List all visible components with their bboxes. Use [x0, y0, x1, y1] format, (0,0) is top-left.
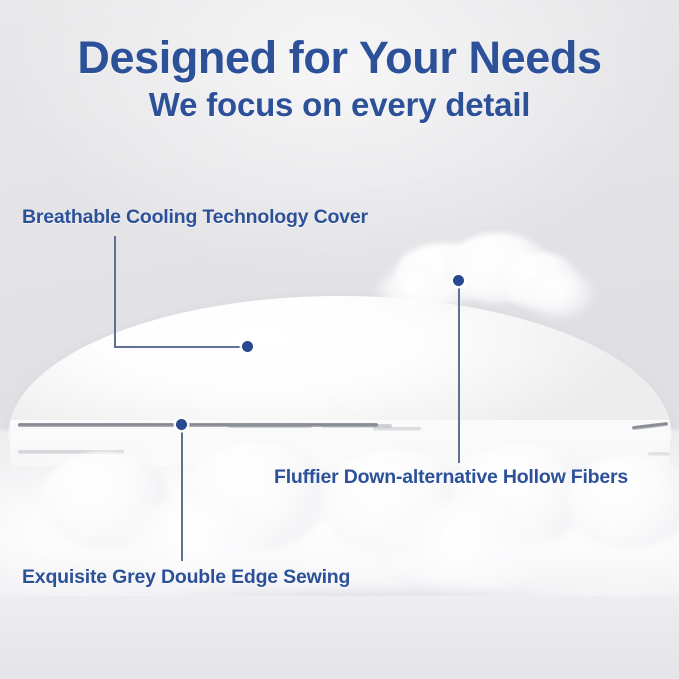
- fiber-cloud-top-a: [395, 243, 491, 305]
- stitch-line-top-mid-3: [373, 427, 421, 431]
- fiber-tuft-1: [40, 452, 170, 548]
- floor-surface: [0, 596, 679, 679]
- product-infographic: Designed for Your Needs We focus on ever…: [0, 0, 679, 679]
- fiber-tuft-7: [380, 500, 556, 588]
- product-shadow: [150, 586, 570, 612]
- callout-marker-hollow-fibers: [453, 275, 464, 286]
- leader-line-edge-sewing-vertical: [181, 427, 183, 561]
- fiber-cloud-top-d: [378, 268, 454, 314]
- pillow-body: [10, 420, 670, 466]
- stitch-line-bottom-right: [648, 452, 670, 456]
- heading-block: Designed for Your Needs We focus on ever…: [0, 34, 679, 124]
- stitch-line-top-mid-2: [322, 424, 392, 428]
- callout-label-edge-sewing: Exquisite Grey Double Edge Sewing: [22, 566, 350, 589]
- fiber-cloud-top-b: [446, 233, 550, 303]
- fiber-tuft-4: [452, 444, 592, 544]
- leader-line-hollow-fibers-vertical: [458, 283, 460, 463]
- pillow-dome: [8, 296, 672, 446]
- stitch-line-top-left: [18, 423, 378, 427]
- callout-label-hollow-fibers: Fluffier Down-alternative Hollow Fibers: [274, 466, 628, 489]
- page-subtitle: We focus on every detail: [0, 87, 679, 123]
- stitch-line-top-mid-1: [228, 424, 312, 428]
- fiber-tuft-2: [186, 442, 328, 550]
- leader-line-cooling-cover-horizontal: [114, 346, 248, 348]
- fiber-cloud-top-c: [497, 252, 579, 308]
- callout-marker-edge-sewing: [176, 419, 187, 430]
- stitch-line-bottom-left: [18, 450, 124, 454]
- stitch-line-top-right: [632, 422, 668, 430]
- callout-label-cooling-cover: Breathable Cooling Technology Cover: [22, 206, 368, 229]
- stitch-line-bottom-mid: [272, 455, 290, 459]
- fiber-cloud-top-e: [524, 272, 594, 316]
- leader-line-cooling-cover-vertical: [114, 236, 116, 347]
- page-title: Designed for Your Needs: [0, 34, 679, 81]
- fiber-fill-mass: [0, 430, 679, 640]
- callout-marker-cooling-cover: [242, 341, 253, 352]
